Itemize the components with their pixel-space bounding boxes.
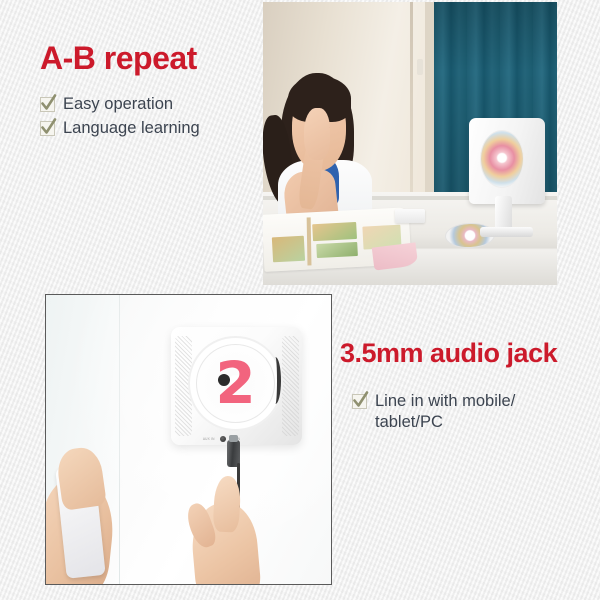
- hand-holding-phone: [45, 445, 126, 585]
- cd-player-base: [480, 227, 534, 237]
- wall-mounted-cd-player: 2 AUX IN DC IN: [171, 327, 302, 445]
- checkbox-checked-icon: [40, 121, 55, 136]
- checkbox-checked-icon: [40, 97, 55, 112]
- list-item: Language learning: [40, 118, 270, 139]
- hand-fingers: [55, 445, 107, 511]
- list-item: Easy operation: [40, 94, 270, 115]
- ab-repeat-headline: A-B repeat: [40, 42, 270, 74]
- speaker-grille-right: [282, 336, 299, 436]
- disc-edge-arc: [270, 357, 281, 404]
- wall-switch: [417, 59, 423, 75]
- audio-jack-bullet-list: Line in with mobile/ tablet/PC: [352, 391, 590, 434]
- list-item: Line in with mobile/ tablet/PC: [352, 391, 590, 434]
- girl-figure: [269, 59, 387, 234]
- open-picture-book: [263, 208, 411, 272]
- photo-girl-reading: [263, 2, 557, 285]
- photo-audio-jack-demo: 2 AUX IN DC IN: [45, 294, 332, 585]
- hand-finger: [212, 476, 241, 533]
- disc-bezel: 2: [188, 336, 282, 431]
- hand-plugging-cable: [183, 468, 269, 585]
- aux-in-label: AUX IN: [203, 437, 215, 441]
- book-spine: [307, 217, 312, 265]
- book-illustration: [272, 236, 306, 263]
- checkbox-checked-icon: [352, 394, 367, 409]
- list-item-label: Easy operation: [63, 94, 173, 115]
- girl-hand-on-cheek: [304, 108, 330, 161]
- ab-repeat-bullet-list: Easy operation Language learning: [40, 94, 270, 140]
- desk-eraser: [395, 209, 424, 223]
- cd-player-on-stand: [469, 118, 545, 237]
- aux-port-icon: [220, 436, 226, 442]
- book-illustration: [316, 242, 358, 259]
- audio-jack-headline: 3.5mm audio jack: [340, 340, 590, 367]
- product-feature-page: A-B repeat Easy operation Language learn…: [0, 0, 600, 600]
- cd-player-body: [469, 118, 545, 204]
- scene-desk-room: [263, 2, 557, 285]
- colorful-cd-icon: [480, 130, 524, 188]
- cd-disc: 2: [196, 344, 275, 424]
- feature-block-ab-repeat: A-B repeat Easy operation Language learn…: [40, 42, 270, 143]
- wall-corner-edge: [410, 2, 413, 200]
- book-illustration: [312, 223, 357, 242]
- list-item-label: Language learning: [63, 118, 200, 139]
- list-item-label: Line in with mobile/ tablet/PC: [375, 391, 515, 434]
- feature-block-audio-jack: 3.5mm audio jack Line in with mobile/ ta…: [340, 340, 590, 437]
- scene-wall-mounted-player: 2 AUX IN DC IN: [46, 295, 331, 584]
